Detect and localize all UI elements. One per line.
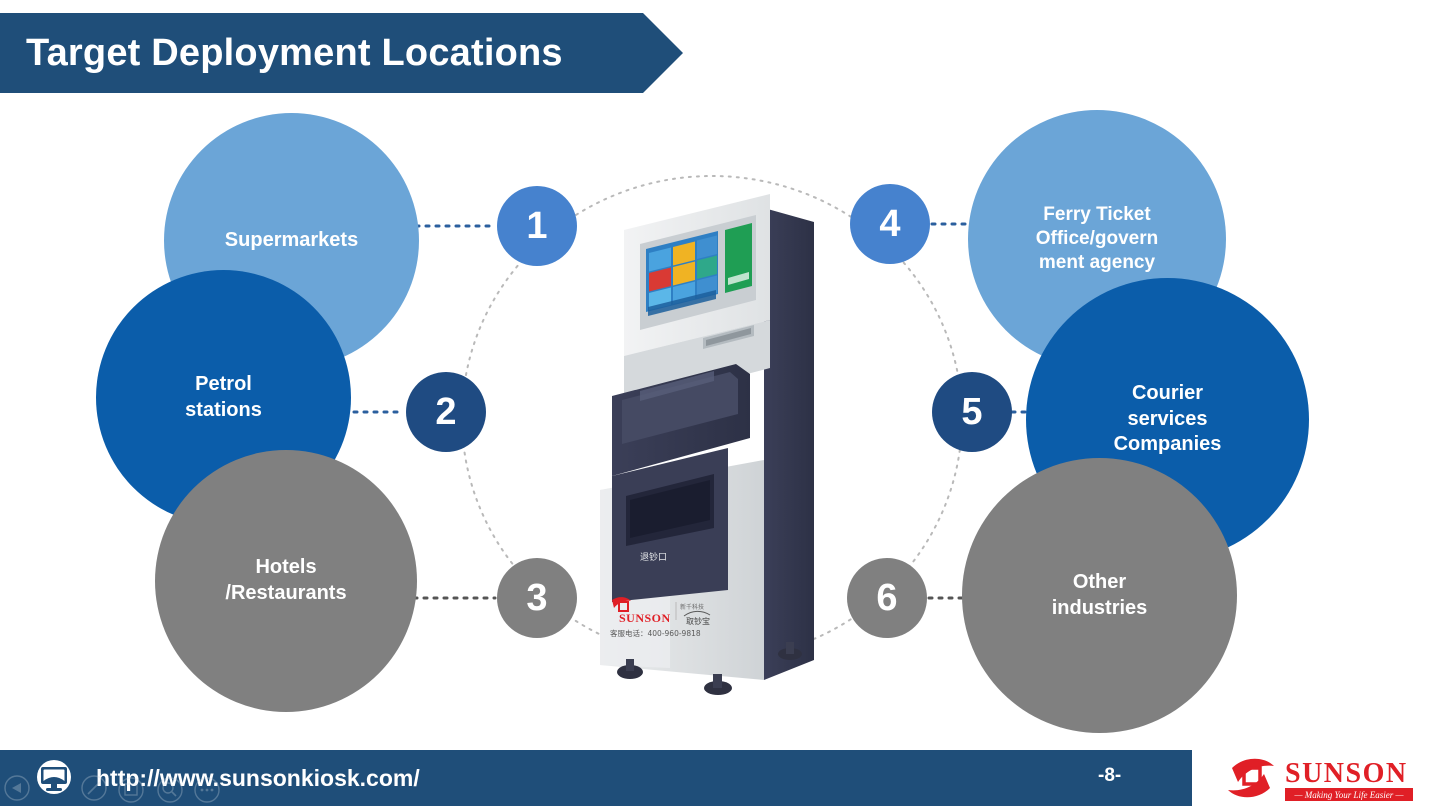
- page-number: -8-: [1098, 765, 1121, 787]
- bubble-label-petrol: Petrolstations: [175, 372, 272, 423]
- badge-3[interactable]: 3: [497, 558, 577, 638]
- slide-overview-icon: [119, 778, 143, 802]
- badge-4[interactable]: 4: [850, 184, 930, 264]
- svg-text:SUNSON: SUNSON: [619, 611, 671, 625]
- bubble-label-ferry: Ferry TicketOffice/government agency: [1026, 203, 1168, 276]
- bubble-hotels-restaurants[interactable]: Hotels/Restaurants: [155, 450, 417, 712]
- monitor-icon[interactable]: [33, 760, 75, 796]
- page-title: Target Deployment Locations: [26, 13, 646, 93]
- slide: Target Deployment Locations Supermarkets…: [0, 0, 1440, 806]
- sunson-logo: SUNSON — Making Your Life Easier —: [1222, 748, 1422, 804]
- svg-text:退钞口: 退钞口: [640, 551, 667, 563]
- bubble-label-courier: CourierservicesCompanies: [1104, 381, 1232, 458]
- svg-text:SUNSON: SUNSON: [1285, 758, 1408, 789]
- bubble-label-hotels: Hotels/Restaurants: [215, 555, 356, 606]
- svg-text:— Making Your Life Easier —: — Making Your Life Easier —: [1294, 790, 1405, 800]
- badge-5[interactable]: 5: [932, 372, 1012, 452]
- badge-2[interactable]: 2: [406, 372, 486, 452]
- kiosk-illustration: 退钞口 SUNSON 新千科技 取钞宝 客服电话：400-960-9818: [578, 160, 838, 700]
- svg-text:新千科技: 新千科技: [680, 603, 704, 611]
- badge-1[interactable]: 1: [497, 186, 577, 266]
- bubble-label-supermarkets: Supermarkets: [215, 228, 368, 254]
- badge-6[interactable]: 6: [847, 558, 927, 638]
- bubble-label-other: Otherindustries: [1042, 570, 1158, 621]
- bubble-other-industries[interactable]: Otherindustries: [962, 458, 1237, 733]
- zoom-icon: [158, 778, 182, 802]
- svg-text:客服电话：400-960-9818: 客服电话：400-960-9818: [610, 628, 701, 638]
- svg-text:取钞宝: 取钞宝: [686, 616, 710, 626]
